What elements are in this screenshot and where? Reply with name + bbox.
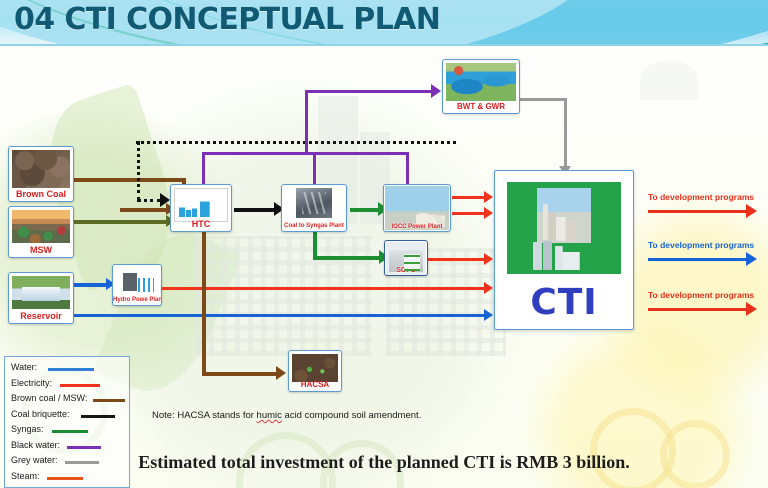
node-htc[interactable]: HTC xyxy=(170,184,232,232)
legend-swatch-coal-briquette xyxy=(81,415,115,418)
legend-item-electricity: Electricity: xyxy=(5,377,129,393)
line-output-2 xyxy=(648,258,752,261)
legend-label-syngas: Syngas: xyxy=(11,424,44,434)
line-htc-to-hacsa-h xyxy=(202,372,278,376)
legend-swatch-syngas xyxy=(52,430,88,433)
legend-label-water: Water: xyxy=(11,362,37,372)
line-msw-to-htc xyxy=(74,220,168,224)
arrowhead-output-3 xyxy=(746,302,757,316)
legend-item-water: Water: xyxy=(5,361,129,377)
hacsa-note: Note: HACSA stands for humic acid compou… xyxy=(152,410,421,421)
arrowhead-reservoir-cti xyxy=(484,309,493,321)
node-igcc-power-plant[interactable]: IGCC Power Plant xyxy=(383,184,451,232)
slide-canvas: 04 CTI CONCEPTUAL PLAN xyxy=(0,0,768,488)
node-sofc[interactable]: SOFC xyxy=(384,240,428,276)
node-label-brown-coal: Brown Coal xyxy=(9,190,73,199)
header-divider xyxy=(0,44,768,46)
slide-header: 04 CTI CONCEPTUAL PLAN xyxy=(0,0,768,46)
line-blackwater-to-bwt xyxy=(305,90,433,93)
arrowhead-coalbriquette-htc xyxy=(160,193,170,207)
investment-statement: Estimated total investment of the planne… xyxy=(0,452,768,473)
node-label-cti: CTI xyxy=(495,285,633,321)
arrowhead-htc-hacsa xyxy=(276,366,286,380)
node-msw[interactable]: MSW xyxy=(8,206,74,258)
line-reservoir-to-cti xyxy=(8,314,490,317)
brown-coal-thumbnail xyxy=(12,150,70,188)
cti-green-panel xyxy=(507,182,621,274)
legend-swatch-water xyxy=(48,368,94,371)
line-output-3 xyxy=(648,308,752,311)
htc-thumbnail xyxy=(174,188,228,222)
node-coal-to-syngas-plant[interactable]: Coal to Syngas Plant xyxy=(281,184,347,232)
line-browncoal-to-htc-h1 xyxy=(74,178,184,182)
node-bwt-gwr[interactable]: BWT & GWR xyxy=(442,59,520,114)
line-hydro-to-cti xyxy=(160,287,490,290)
output-label-1: To development programs xyxy=(648,192,754,202)
node-brown-coal[interactable]: Brown Coal xyxy=(8,146,74,202)
arrowhead-output-1 xyxy=(746,204,757,218)
line-syngas-to-igcc xyxy=(350,208,380,212)
line-greywater-v xyxy=(564,98,567,168)
node-label-htc: HTC xyxy=(171,220,231,229)
legend-swatch-electricity xyxy=(60,384,100,387)
line-syngas-to-sofc-v xyxy=(313,232,317,258)
background-window-grid-1 xyxy=(196,236,372,356)
bwt-gwr-thumbnail xyxy=(446,63,516,101)
legend-swatch-steam xyxy=(47,477,83,480)
line-blackwater-riser xyxy=(305,90,308,154)
node-label-igcc-power-plant: IGCC Power Plant xyxy=(384,224,450,230)
legend-item-brown-coal-msw: Brown coal / MSW: xyxy=(5,392,129,408)
legend-item-coal-briquette: Coal briquette: xyxy=(5,408,129,424)
arrowhead-output-2 xyxy=(746,252,757,266)
legend-item-syngas: Syngas: xyxy=(5,423,129,439)
legend-swatch-brown-coal-msw xyxy=(93,399,125,402)
hydro-power-plant-thumbnail xyxy=(116,268,158,296)
arrowhead-igcc-cti-2 xyxy=(484,207,493,219)
hacsa-thumbnail xyxy=(292,354,338,382)
cti-plant-photo xyxy=(537,188,592,243)
cti-equipment-photo xyxy=(532,239,596,270)
note-suffix: acid compound soil amendment. xyxy=(282,410,421,421)
line-coalbriquette-h2 xyxy=(137,199,161,202)
output-label-2: To development programs xyxy=(648,240,754,250)
node-hydro-power-plant[interactable]: Hydro Powe Plant xyxy=(112,264,162,306)
legend-label-coal-briquette: Coal briquette: xyxy=(11,409,70,419)
node-label-msw: MSW xyxy=(9,246,73,255)
line-blackwater-syngas-v xyxy=(313,152,316,186)
node-label-bwt-gwr: BWT & GWR xyxy=(443,103,519,111)
legend-swatch-black-water xyxy=(67,446,101,449)
arrowhead-hydro-cti xyxy=(484,282,493,294)
line-coalbriquette-h xyxy=(136,141,456,144)
line-htc-to-syngas xyxy=(234,208,276,212)
line-output-1 xyxy=(648,210,752,213)
line-browncoal-into-htc xyxy=(120,208,168,212)
node-cti[interactable]: CTI xyxy=(494,170,634,330)
note-flagged-word: humic xyxy=(257,410,282,421)
page-title: 04 CTI CONCEPTUAL PLAN xyxy=(14,2,440,37)
arrowhead-blackwater-bwt xyxy=(431,84,441,98)
line-syngas-to-sofc-h xyxy=(313,256,381,260)
node-label-hydro-power-plant: Hydro Powe Plant xyxy=(113,297,161,303)
legend-label-brown-coal-msw: Brown coal / MSW: xyxy=(11,393,87,403)
arrowhead-igcc-cti-1 xyxy=(484,191,493,203)
line-greywater-h xyxy=(520,98,566,101)
line-blackwater-igcc-v xyxy=(406,152,409,186)
line-htc-to-hacsa-v xyxy=(202,232,206,374)
node-label-coal-to-syngas-plant: Coal to Syngas Plant xyxy=(282,223,346,229)
syngas-thumbnail xyxy=(296,188,332,218)
node-label-reservoir: Reservoir xyxy=(9,312,73,321)
msw-thumbnail xyxy=(12,210,70,243)
reservoir-thumbnail xyxy=(12,276,70,309)
note-prefix: Note: HACSA stands for xyxy=(152,410,257,421)
arrowhead-sofc-cti xyxy=(484,253,493,265)
legend-label-black-water: Black water: xyxy=(11,440,60,450)
legend-label-electricity: Electricity: xyxy=(11,378,52,388)
node-reservoir[interactable]: Reservoir xyxy=(8,272,74,324)
line-blackwater-htc-v xyxy=(202,152,205,186)
background-building-3 xyxy=(640,60,698,100)
line-sofc-to-cti xyxy=(428,258,490,261)
node-label-hacsa: HACSA xyxy=(289,381,341,389)
output-label-3: To development programs xyxy=(648,290,754,300)
node-hacsa[interactable]: HACSA xyxy=(288,350,342,392)
line-reservoir-to-hydro xyxy=(74,283,108,287)
line-coalbriquette-v xyxy=(137,141,140,201)
